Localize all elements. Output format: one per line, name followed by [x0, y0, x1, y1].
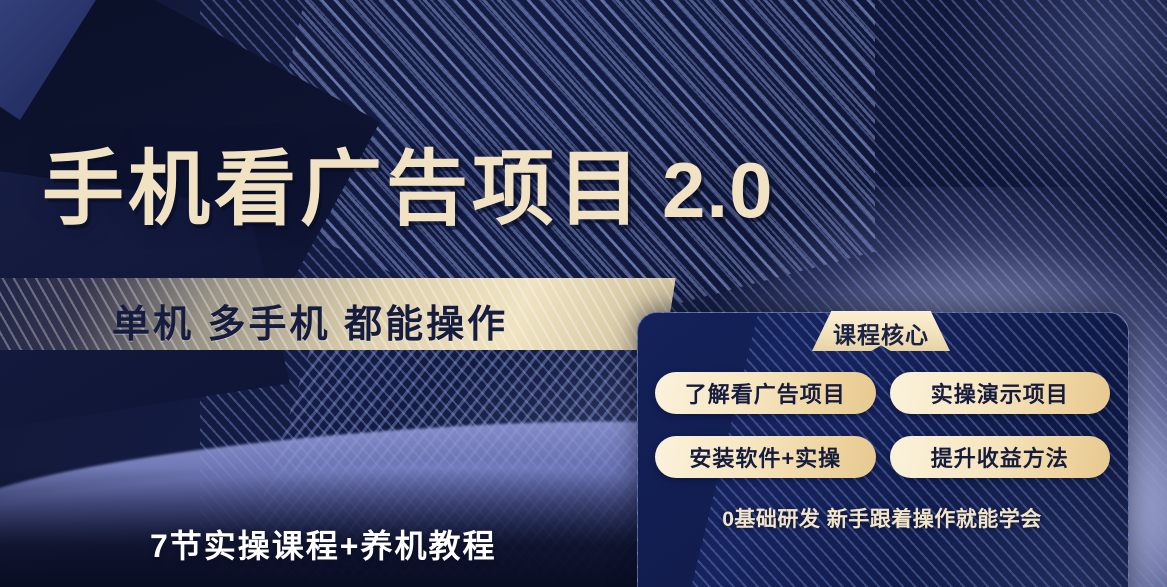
promo-banner: 手机看广告项目2.0 单机 多手机 都能操作 7节实操课程+养机教程 课程核心 …	[0, 0, 1167, 587]
course-core-item-2[interactable]: 实操演示项目	[890, 372, 1111, 414]
course-core-note: 0基础研发 新手跟着操作就能学会	[637, 503, 1127, 533]
title-main-text: 手机看广告项目	[42, 144, 644, 235]
course-core-item-4[interactable]: 提升收益方法	[890, 436, 1111, 478]
subtitle-text: 单机 多手机 都能操作	[112, 293, 632, 348]
course-core-item-3-label: 安装软件+实操	[689, 441, 841, 473]
course-core-item-list: 了解看广告项目 实操演示项目 安装软件+实操 提升收益方法	[655, 372, 1110, 478]
course-core-item-1-label: 了解看广告项目	[685, 377, 846, 409]
course-core-item-1[interactable]: 了解看广告项目	[655, 372, 876, 414]
course-core-item-4-label: 提升收益方法	[931, 441, 1069, 473]
title-version-text: 2.0	[662, 146, 773, 234]
course-core-item-2-label: 实操演示项目	[931, 377, 1069, 409]
courses-count-text: 7节实操课程+养机教程	[150, 521, 497, 567]
course-core-item-3[interactable]: 安装软件+实操	[655, 436, 876, 478]
page-title: 手机看广告项目2.0	[42, 122, 773, 241]
course-core-tab-label: 课程核心	[812, 316, 950, 350]
glow-top-right	[927, 0, 1167, 200]
